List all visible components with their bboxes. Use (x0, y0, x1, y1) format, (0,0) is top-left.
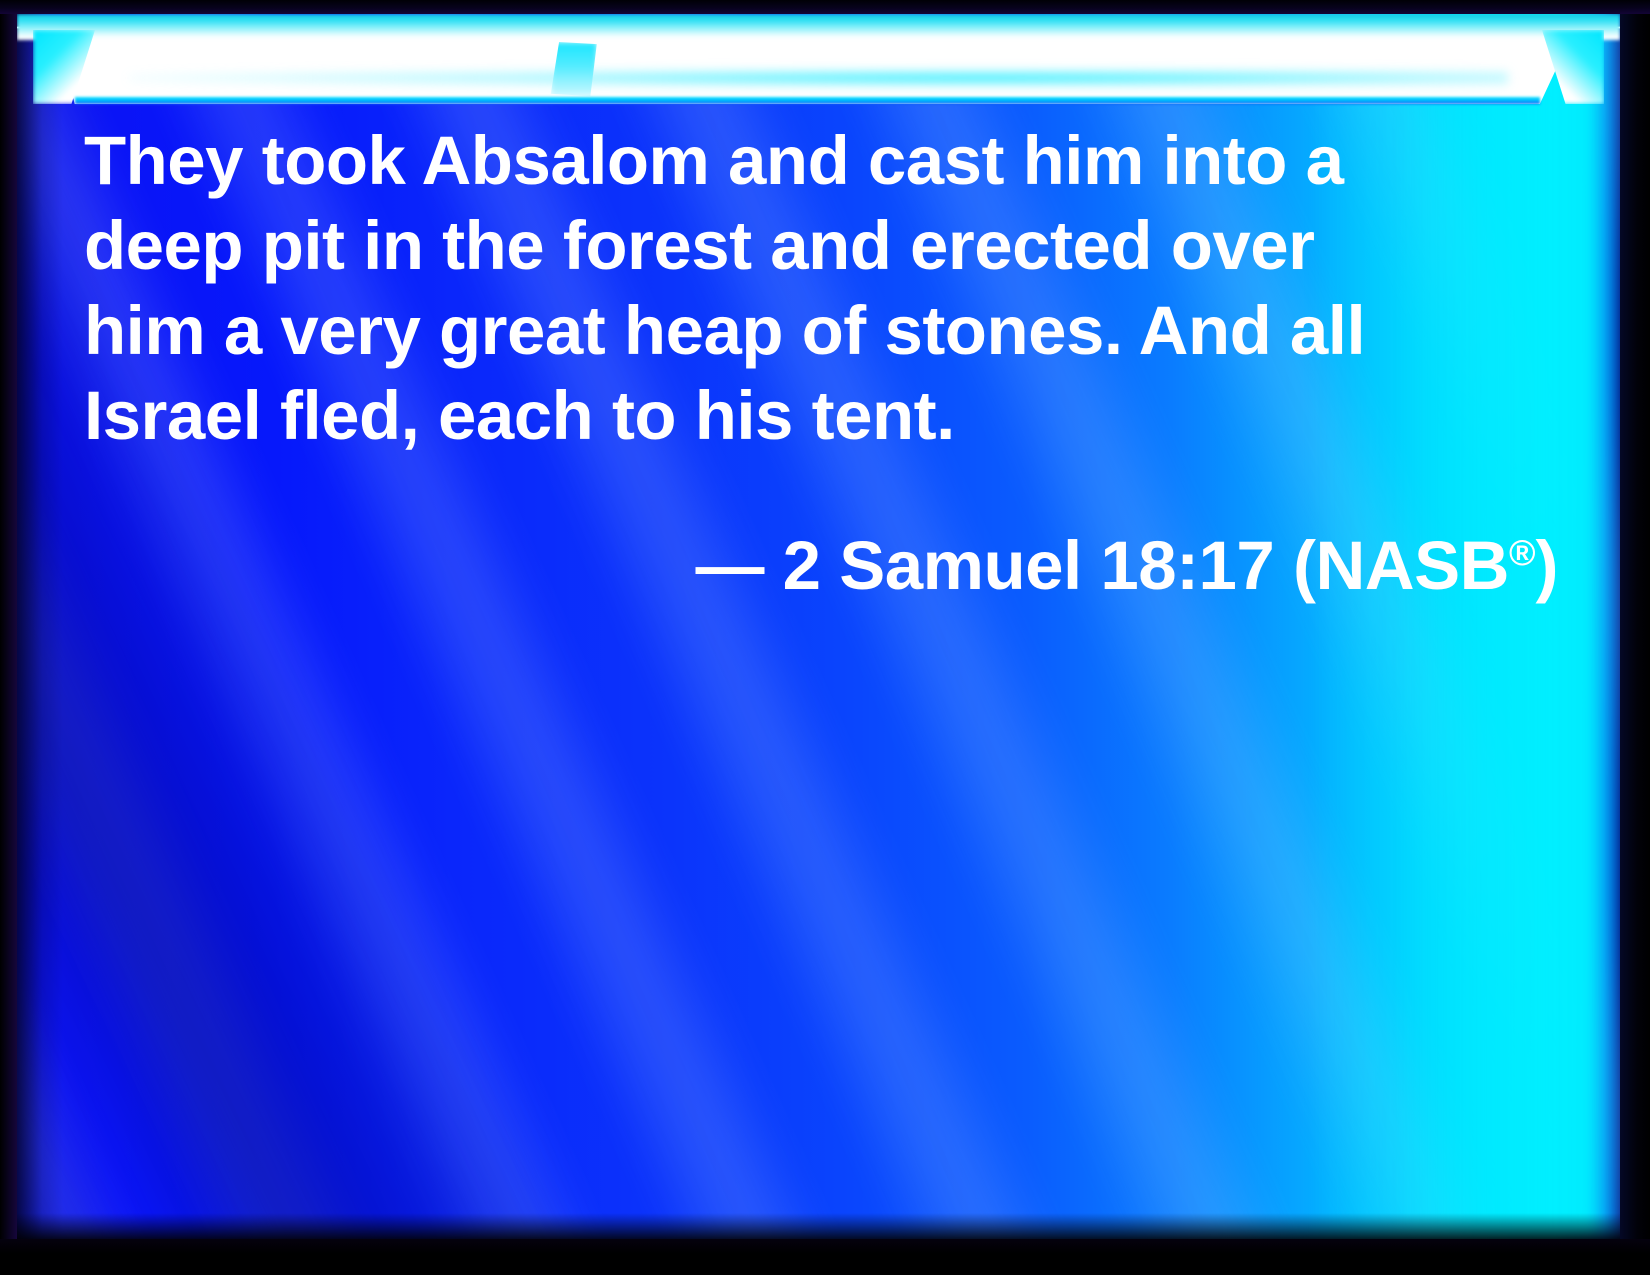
attribution-space-3 (1274, 527, 1293, 604)
registered-trademark-icon: ® (1509, 532, 1536, 573)
attribution-chapter-verse: 18:17 (1100, 527, 1274, 604)
attribution-translation-open: (NASB (1293, 527, 1509, 604)
verse-line-2: deep pit in the forest and erected over (84, 203, 1564, 288)
verse-line-4: Israel fled, each to his tent. (84, 373, 1564, 458)
scripture-slide: They took Absalom and cast him into a de… (0, 0, 1650, 1275)
top-band-cyan-line (17, 14, 1620, 40)
verse-attribution: — 2 Samuel 18:17 (NASB®) (84, 510, 1564, 608)
frame-border-right (1620, 0, 1650, 1275)
attribution-space-1 (764, 527, 783, 604)
frame-border-left (0, 0, 17, 1275)
verse-line-3: him a very great heap of stones. And all (84, 288, 1564, 373)
attribution-space-2 (1082, 527, 1101, 604)
verse-line-1: They took Absalom and cast him into a (84, 118, 1564, 203)
attribution-book: 2 Samuel (783, 527, 1082, 604)
verse-text-block: They took Absalom and cast him into a de… (84, 118, 1564, 608)
top-band-cyan-glow (129, 69, 1508, 87)
top-band-underline (75, 97, 1540, 104)
frame-border-top (0, 0, 1650, 14)
frame-border-bottom (0, 1239, 1650, 1275)
attribution-dash: — (695, 527, 764, 604)
attribution-translation-close: ) (1536, 527, 1558, 604)
background-bottom-vignette (17, 1213, 1620, 1239)
top-highlight-band (17, 14, 1620, 104)
background-left-vignette (17, 14, 63, 1239)
